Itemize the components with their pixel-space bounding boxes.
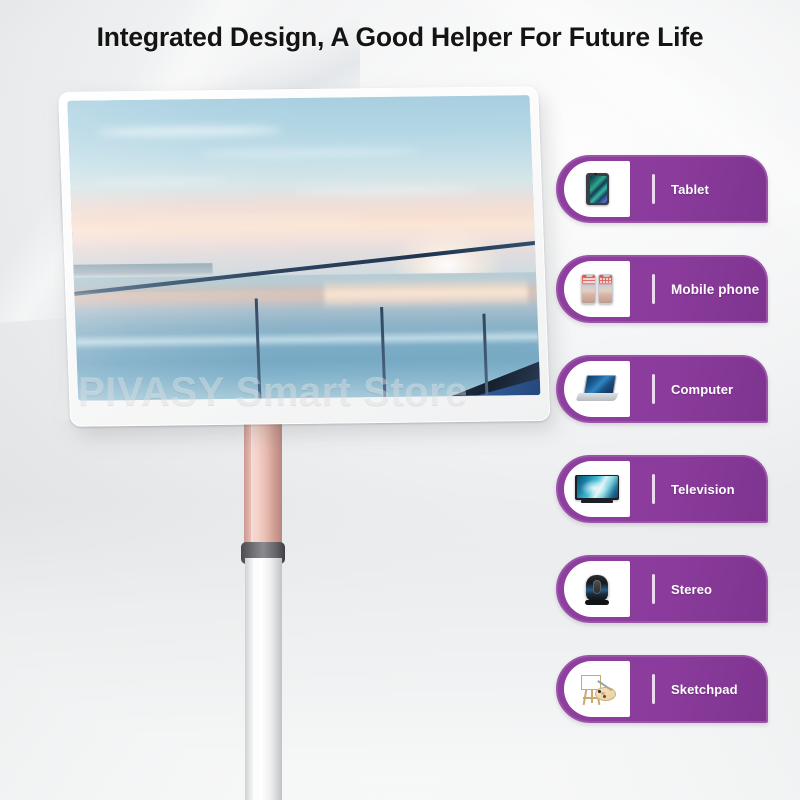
badge-image-panel (564, 561, 630, 617)
badge-image-panel (564, 161, 630, 217)
tablet-icon (586, 173, 609, 205)
badge-label: Sketchpad (671, 682, 738, 697)
badge-image-panel (564, 361, 630, 417)
badge-label: Mobile phone (671, 282, 759, 297)
badge-computer[interactable]: Computer (556, 355, 768, 423)
badge-tablet[interactable]: Tablet (556, 155, 768, 223)
product-marketing-image: Integrated Design, A Good Helper For Fut… (0, 0, 800, 800)
feature-badge-list: Tablet Mobile phone Computer (556, 155, 768, 755)
badge-divider (652, 474, 655, 504)
easel-icon (576, 673, 618, 705)
badge-mobile-phone[interactable]: Mobile phone (556, 255, 768, 323)
glass-sheen (74, 287, 540, 401)
pole-upper-section (244, 420, 282, 555)
smart-tv (58, 86, 550, 427)
speaker-icon (585, 573, 609, 605)
badge-divider (652, 374, 655, 404)
badge-television[interactable]: Television (556, 455, 768, 523)
badge-divider (652, 174, 655, 204)
badge-image-panel (564, 261, 630, 317)
badge-sketchpad[interactable]: Sketchpad (556, 655, 768, 723)
badge-divider (652, 674, 655, 704)
television-icon (575, 475, 619, 504)
badge-label: Computer (671, 382, 733, 397)
tv-bezel (58, 86, 550, 427)
pole-lower-section (245, 558, 282, 800)
badge-divider (652, 574, 655, 604)
laptop-icon (577, 375, 617, 403)
badge-divider (652, 274, 655, 304)
tv-stand-pole (232, 420, 296, 800)
badge-label: Stereo (671, 582, 712, 597)
page-title: Integrated Design, A Good Helper For Fut… (0, 22, 800, 53)
badge-image-panel (564, 661, 630, 717)
badge-label: Television (671, 482, 735, 497)
badge-label: Tablet (671, 182, 709, 197)
badge-stereo[interactable]: Stereo (556, 555, 768, 623)
badge-image-panel (564, 461, 630, 517)
smartphone-icon (581, 274, 613, 304)
tv-screen (67, 95, 540, 400)
